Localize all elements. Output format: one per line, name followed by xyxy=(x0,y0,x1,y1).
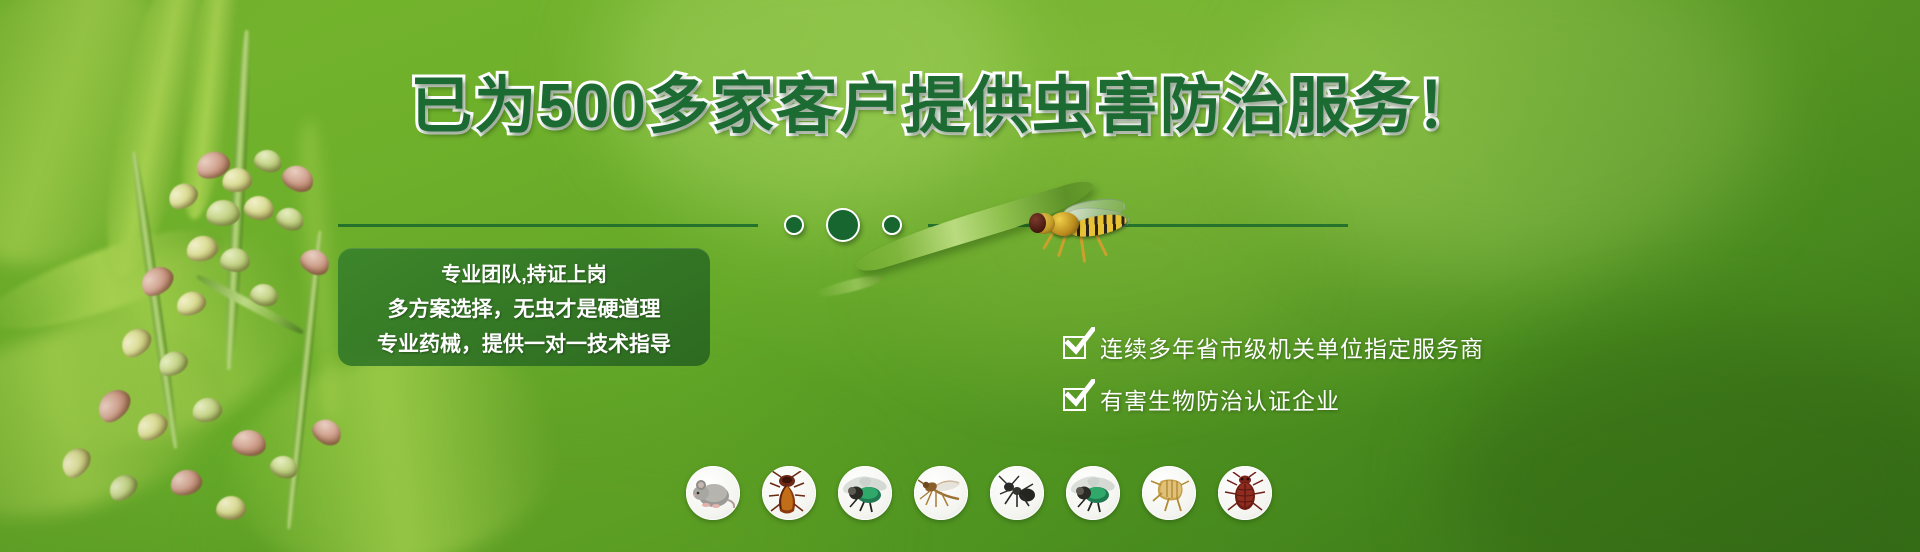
pest-icon-ant[interactable] xyxy=(990,466,1044,520)
divider-rule-left xyxy=(338,224,758,227)
slogan-panel: 专业团队,持证上岗 多方案选择，无虫才是硬道理 专业药械，提供一对一技术指导 xyxy=(338,248,710,366)
slogan-line-3: 专业药械，提供一对一技术指导 xyxy=(377,328,671,358)
promo-banner: 已为500多家客户提供虫害防治服务！ 专业团队,持证上岗 多方案选择，无虫才是硬… xyxy=(0,0,1920,552)
checkmark-icon xyxy=(1063,388,1086,411)
pest-icon-mosquito[interactable] xyxy=(914,466,968,520)
slogan-line-1: 专业团队,持证上岗 xyxy=(441,258,607,287)
pest-icon-row xyxy=(686,466,1272,520)
pest-icon-bedbug[interactable] xyxy=(1218,466,1272,520)
leaf-tip xyxy=(815,272,886,301)
decorative-divider xyxy=(338,205,1348,245)
hoverfly-on-leaf-illustration xyxy=(855,192,1185,312)
slogan-line-2: 多方案选择，无虫才是硬道理 xyxy=(388,293,661,323)
hoverfly-icon xyxy=(1023,198,1143,254)
feature-checklist: 连续多年省市级机关单位指定服务商 有害生物防治认证企业 xyxy=(1063,330,1484,416)
pest-icon-fly[interactable] xyxy=(1066,466,1120,520)
page-title: 已为500多家客户提供虫害防治服务！ xyxy=(300,76,1590,138)
checklist-item-label: 有害生物防治认证企业 xyxy=(1100,382,1340,416)
bokeh-blob xyxy=(1450,330,1920,552)
pest-icon-fly[interactable] xyxy=(838,466,892,520)
checkmark-icon xyxy=(1063,336,1086,359)
decorative-dot-small xyxy=(784,215,804,235)
pest-icon-mouse[interactable] xyxy=(686,466,740,520)
pest-icon-flea[interactable] xyxy=(1142,466,1196,520)
checklist-item: 有害生物防治认证企业 xyxy=(1063,382,1484,416)
pest-icon-cockroach[interactable] xyxy=(762,466,816,520)
checklist-item-label: 连续多年省市级机关单位指定服务商 xyxy=(1100,330,1484,364)
eye xyxy=(1029,213,1046,233)
checklist-item: 连续多年省市级机关单位指定服务商 xyxy=(1063,330,1484,364)
